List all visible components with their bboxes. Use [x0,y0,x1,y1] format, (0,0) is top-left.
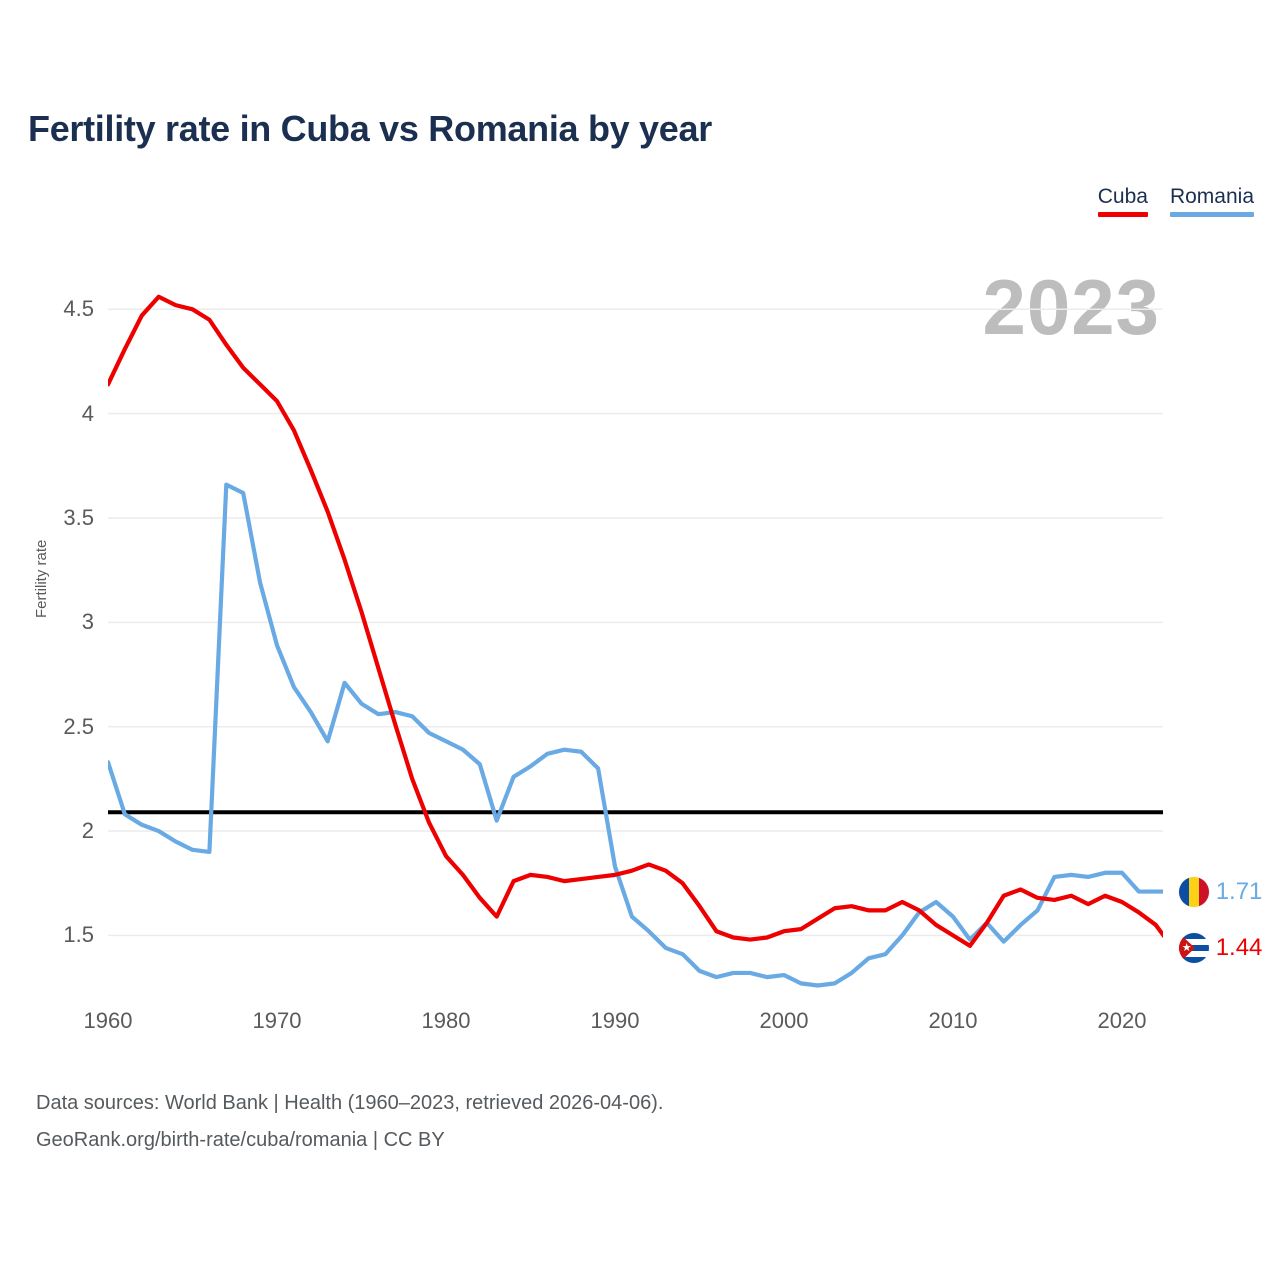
y-tick-label: 4 [82,401,94,427]
end-label-cuba: ★ 1.44 [1179,933,1263,963]
y-tick-label: 3 [82,609,94,635]
legend-item-cuba[interactable]: Cuba [1098,185,1148,217]
y-tick-label: 2.5 [63,714,94,740]
x-tick-label: 2000 [760,1008,809,1034]
y-tick-label: 4.5 [63,296,94,322]
x-tick-label: 2010 [929,1008,978,1034]
legend-item-romania[interactable]: Romania [1170,185,1254,217]
plot-area [108,278,1163,998]
legend-label-cuba: Cuba [1098,185,1148,209]
plot-svg [108,278,1163,998]
series-line-romania [108,485,1163,986]
footer-line-1: Data sources: World Bank | Health (1960–… [36,1085,663,1122]
cuba-flag-icon: ★ [1179,933,1209,963]
end-label-romania: 1.71 [1179,877,1263,907]
page-title: Fertility rate in Cuba vs Romania by yea… [28,108,712,150]
legend-swatch-cuba [1098,212,1148,217]
y-tick-label: 1.5 [63,922,94,948]
x-tick-label: 1960 [84,1008,133,1034]
end-value-romania: 1.71 [1216,878,1263,906]
x-tick-label: 2020 [1098,1008,1147,1034]
y-tick-label: 2 [82,818,94,844]
legend-label-romania: Romania [1170,185,1254,209]
gridlines [108,309,1163,935]
x-tick-label: 1970 [253,1008,302,1034]
end-value-cuba: 1.44 [1216,934,1263,962]
romania-flag-icon [1179,877,1209,907]
x-tick-label: 1990 [591,1008,640,1034]
y-tick-label: 3.5 [63,505,94,531]
fertility-rate-chart: Fertility rate in Cuba vs Romania by yea… [0,0,1280,1280]
y-axis-title: Fertility rate [33,540,50,618]
x-tick-label: 1980 [422,1008,471,1034]
footer-line-2: GeoRank.org/birth-rate/cuba/romania | CC… [36,1122,663,1159]
legend-swatch-romania [1170,212,1254,217]
footer-credits: Data sources: World Bank | Health (1960–… [36,1085,663,1159]
chart-legend: Cuba Romania [1098,185,1254,217]
